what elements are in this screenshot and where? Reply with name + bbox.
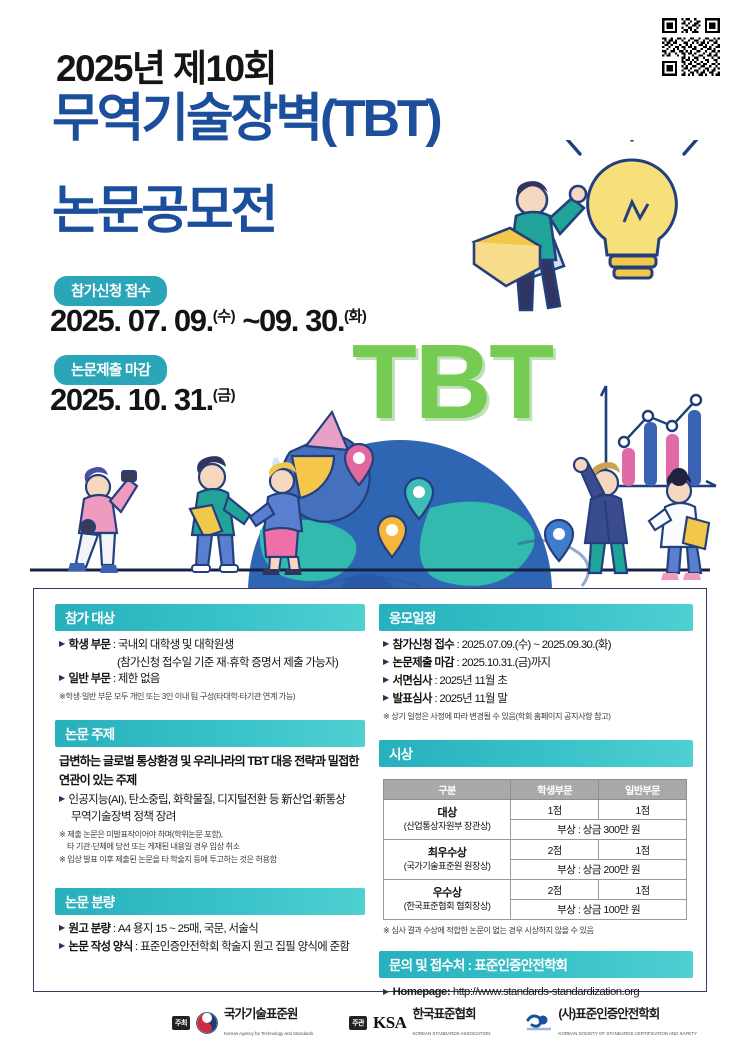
lightbulb-icon bbox=[566, 140, 698, 278]
poster-kicker: 2025년 제10회 bbox=[56, 38, 276, 92]
triangle-bullet-icon: ▶ bbox=[59, 921, 65, 936]
awards-note: ※ 심사 결과 수상에 적합한 논문이 없는 경우 시상하지 않을 수 있음 bbox=[383, 925, 687, 937]
pie-chart-icon bbox=[272, 412, 370, 522]
topic-note-1-text: ※ 제출 논문은 미발표작이어야 하며(학위논문 포함), bbox=[59, 830, 223, 839]
section-awards: 시상 구분 학생부문 일반부문 bbox=[379, 740, 693, 937]
society-name-en: KOREAN SOCIETY OF STANDARDS CERTIFICATIO… bbox=[558, 1031, 696, 1036]
list-item: ▶ 발표심사 : 2025년 11월 말 bbox=[383, 691, 691, 708]
contact-homepage-label: Homepage: bbox=[393, 986, 451, 998]
awards-row-1-grade: 최우수상 (국가기술표준원 원장상) bbox=[384, 840, 511, 880]
host-name-ko: 국가기술표준원 bbox=[224, 1007, 298, 1021]
apply-period-date: 2025. 07. 09.(수) ~09. 30.(화) bbox=[50, 303, 366, 339]
awards-row-2-grade: 우수상 (한국표준협회 협회장상) bbox=[384, 880, 511, 920]
apply-end-day: (화) bbox=[344, 308, 366, 325]
sos-icon bbox=[526, 1013, 552, 1033]
schedule-item-3-value: 2025년 11월 말 bbox=[439, 693, 507, 705]
bar-chart-icon bbox=[601, 386, 716, 486]
apply-start-day: (수) bbox=[213, 308, 235, 325]
schedule-item-0-value: 2025.07.09.(수) ~ 2025.09.30.(화) bbox=[462, 639, 611, 651]
triangle-bullet-icon: ▶ bbox=[383, 984, 389, 999]
schedule-item-1-label: 논문제출 마감 bbox=[393, 657, 455, 669]
topic-bullet-line1: 인공지능(AI), 탄소중립, 화학물질, 디지털전환 등 新산업·新통상 bbox=[69, 792, 363, 809]
schedule-item-0-sep: : bbox=[454, 639, 462, 651]
schedule-item-3-label: 발표심사 bbox=[393, 693, 432, 705]
submit-date: 2025. 10. 31. bbox=[50, 382, 213, 417]
qr-code[interactable] bbox=[660, 16, 722, 78]
target-student-subnote: (참가신청 접수일 기준 재·휴학 증명서 제출 가능자) bbox=[59, 655, 363, 672]
awards-row-1-prize: 부상 : 상금 200만 원 bbox=[511, 860, 687, 880]
person-with-folder bbox=[510, 181, 586, 310]
logo-society: (사)표준인증안전학회 KOREAN SOCIETY OF STANDARDS … bbox=[526, 1006, 696, 1040]
list-item: ▶ 논문 작성 양식 : 표준인증안전학회 학술지 원고 집필 양식에 준함 bbox=[59, 939, 363, 956]
poster-title-line2: 논문공모전 bbox=[52, 185, 275, 238]
people-left-svg bbox=[50, 455, 350, 575]
taegeuk-icon bbox=[196, 1012, 218, 1034]
submit-deadline-badge: 논문제출 마감 bbox=[54, 355, 167, 385]
triangle-bullet-icon: ▶ bbox=[383, 637, 389, 652]
triangle-bullet-icon: ▶ bbox=[383, 673, 389, 688]
awards-row-2-prize: 부상 : 상금 100만 원 bbox=[511, 900, 687, 920]
qr-code-icon bbox=[660, 16, 722, 78]
host-name-en: Korean Agency for Technology and Standar… bbox=[224, 1031, 313, 1036]
target-item-1-value: 제한 없음 bbox=[118, 673, 160, 685]
length-item-1-sep: : bbox=[133, 941, 141, 953]
awards-row-1-student: 2점 bbox=[511, 840, 599, 860]
target-item-0-label: 학생 부문 bbox=[69, 639, 111, 651]
schedule-item-2-label: 서면심사 bbox=[393, 675, 432, 687]
triangle-bullet-icon: ▶ bbox=[59, 671, 65, 686]
awards-row-0-grade-sub: (산업통상자원부 장관상) bbox=[387, 821, 507, 833]
apply-end-date: 09. 30. bbox=[259, 303, 344, 338]
list-item: ▶ 참가신청 접수 : 2025.07.09.(수) ~ 2025.09.30.… bbox=[383, 637, 691, 654]
section-schedule: 응모일정 ▶ 참가신청 접수 : 2025.07.09.(수) ~ 2025.0… bbox=[379, 604, 693, 722]
svg-text:TBT: TBT bbox=[352, 330, 553, 441]
schedule-item-2-value: 2025년 11월 초 bbox=[439, 675, 507, 687]
target-note: ※학생·일반 부문 모두 개인 또는 3인 이내 팀 구성(타대학·타기관 연계… bbox=[59, 691, 363, 703]
submit-day: (금) bbox=[213, 387, 235, 404]
organizer-name-en: KOREAN STANDARDS ASSOCIATION bbox=[412, 1031, 490, 1036]
awards-row-1-grade-sub: (국가기술표준원 원장상) bbox=[387, 861, 507, 873]
awards-row-2-student: 2점 bbox=[511, 880, 599, 900]
contact-homepage-value[interactable]: http://www.standards-standardization.org bbox=[453, 986, 639, 998]
lightbulb-scene-svg bbox=[470, 140, 720, 340]
contact-homepage-row[interactable]: ▶ Homepage: http://www.standards-standar… bbox=[383, 984, 691, 1001]
schedule-item-0-label: 참가신청 접수 bbox=[393, 639, 455, 651]
triangle-bullet-icon: ▶ bbox=[59, 792, 65, 807]
triangle-bullet-icon: ▶ bbox=[383, 691, 389, 706]
length-item-1-label: 논문 작성 양식 bbox=[69, 941, 133, 953]
list-item: ▶ 원고 분량 : A4 용지 15 ~ 25매, 국문, 서술식 bbox=[59, 921, 363, 938]
awards-row-2-general: 1점 bbox=[599, 880, 687, 900]
date-range-tilde: ~ bbox=[242, 303, 259, 338]
awards-row-2-grade-name: 우수상 bbox=[387, 887, 507, 901]
poster-title-line1: 무역기술장벽(TBT) bbox=[52, 93, 440, 146]
length-item-1-value: 표준인증안전학회 학술지 원고 집필 양식에 준함 bbox=[140, 941, 349, 953]
topic-note-2: ※ 입상 발표 이후 제출된 논문을 타 학술지 등에 투고하는 것은 허용함 bbox=[59, 854, 363, 866]
society-name-ko: (사)표준인증안전학회 bbox=[558, 1007, 659, 1021]
person-handshake-right bbox=[250, 462, 302, 575]
person-with-clipboard bbox=[649, 468, 709, 580]
poster-hero: TBT TBT TBT bbox=[0, 0, 740, 592]
awards-col-1: 학생부문 bbox=[511, 780, 599, 800]
logo-organizer: 주관 KSA 한국표준협회 KOREAN STANDARDS ASSOCIATI… bbox=[349, 1006, 490, 1040]
awards-row-0-prize: 부상 : 상금 300만 원 bbox=[511, 820, 687, 840]
list-item: ▶ 일반 부문 : 제한 없음 bbox=[59, 671, 363, 688]
person-raising-hand bbox=[574, 458, 627, 573]
tbt-wordmark: TBT TBT TBT bbox=[352, 330, 556, 444]
section-topic: 논문 주제 급변하는 글로벌 통상환경 및 우리나라의 TBT 대응 전략과 밀… bbox=[55, 720, 365, 866]
topic-note-1: ※ 제출 논문은 미발표작이어야 하며(학위논문 포함), 타 기관·단체에 당… bbox=[59, 829, 363, 853]
info-panel: 참가 대상 ▶ 학생 부문 : 국내외 대학생 및 대학원생 (참가신청 접수일… bbox=[33, 588, 707, 992]
triangle-bullet-icon: ▶ bbox=[59, 939, 65, 954]
organizer-name-ko: 한국표준협회 bbox=[412, 1007, 475, 1021]
awards-row-0-grade: 대상 (산업통상자원부 장관상) bbox=[384, 800, 511, 840]
target-item-1-label: 일반 부문 bbox=[69, 673, 111, 685]
awards-col-0: 구분 bbox=[384, 780, 511, 800]
triangle-bullet-icon: ▶ bbox=[59, 637, 65, 652]
section-length: 논문 분량 ▶ 원고 분량 : A4 용지 15 ~ 25매, 국문, 서술식 … bbox=[55, 888, 365, 956]
awards-row-0-general: 1점 bbox=[599, 800, 687, 820]
table-row: 우수상 (한국표준협회 협회장상) 2점 1점 bbox=[384, 880, 687, 900]
awards-row-1-grade-name: 최우수상 bbox=[387, 847, 507, 861]
awards-row-0-grade-name: 대상 bbox=[387, 807, 507, 821]
schedule-note: ※ 상기 일정은 사정에 따라 변경될 수 있음(학회 홈페이지 공지사항 참고… bbox=[383, 711, 691, 723]
apply-start-date: 2025. 07. 09. bbox=[50, 303, 213, 338]
svg-text:TBT: TBT bbox=[352, 330, 553, 441]
topic-bullet-line2: 무역기술장벽 정책 장려 bbox=[59, 809, 363, 826]
schedule-item-1-value: 2025.10.31.(금)까지 bbox=[462, 657, 551, 669]
awards-table: 구분 학생부문 일반부문 대상 (산업통상자원부 장관상) bbox=[383, 779, 687, 920]
organizer-logos: 주최 국가기술표준원 Korean Agency for Technology … bbox=[172, 1006, 697, 1040]
topic-note-1b-text: 타 기관·단체에 당선 또는 게재된 내용일 경우 입상 취소 bbox=[59, 841, 363, 853]
ksa-mark: KSA bbox=[373, 1013, 406, 1033]
target-item-1-sep: : bbox=[110, 673, 118, 685]
awards-row-0-student: 1점 bbox=[511, 800, 599, 820]
section-target-heading: 참가 대상 bbox=[55, 604, 365, 631]
length-item-0-sep: : bbox=[110, 923, 118, 935]
people-right-svg bbox=[565, 455, 725, 580]
section-topic-heading: 논문 주제 bbox=[55, 720, 365, 747]
awards-row-2-grade-sub: (한국표준협회 협회장상) bbox=[387, 901, 507, 913]
organizer-role-chip: 주관 bbox=[349, 1016, 367, 1030]
section-schedule-heading: 응모일정 bbox=[379, 604, 693, 631]
topic-lead-line2: 연관이 있는 주제 bbox=[59, 772, 363, 789]
footer: 주최 국가기술표준원 Korean Agency for Technology … bbox=[0, 1000, 740, 1047]
section-contact-heading: 문의 및 접수처 : 표준인증안전학회 bbox=[379, 951, 693, 978]
target-item-0-sep: : bbox=[110, 639, 118, 651]
person-photographer bbox=[68, 467, 137, 573]
list-item: ▶ 논문제출 마감 : 2025.10.31.(금)까지 bbox=[383, 655, 691, 672]
map-pin-icons bbox=[345, 444, 573, 561]
section-target: 참가 대상 ▶ 학생 부문 : 국내외 대학생 및 대학원생 (참가신청 접수일… bbox=[55, 604, 365, 703]
list-item: ▶ 인공지능(AI), 탄소중립, 화학물질, 디지털전환 등 新산업·新통상 bbox=[59, 792, 363, 809]
svg-text:TBT: TBT bbox=[355, 330, 556, 444]
panel-left-column: 참가 대상 ▶ 학생 부문 : 국내외 대학생 및 대학원생 (참가신청 접수일… bbox=[55, 604, 365, 969]
list-item: ▶ 서면심사 : 2025년 11월 초 bbox=[383, 673, 691, 690]
host-role-chip: 주최 bbox=[172, 1016, 190, 1030]
triangle-bullet-icon: ▶ bbox=[383, 655, 389, 670]
list-item: ▶ 학생 부문 : 국내외 대학생 및 대학원생 bbox=[59, 637, 363, 654]
apply-period-badge: 참가신청 접수 bbox=[54, 276, 167, 306]
awards-col-2: 일반부문 bbox=[599, 780, 687, 800]
awards-row-1-general: 1점 bbox=[599, 840, 687, 860]
schedule-item-1-sep: : bbox=[454, 657, 462, 669]
length-item-0-label: 원고 분량 bbox=[69, 923, 111, 935]
topic-lead-line1: 급변하는 글로벌 통상환경 및 우리나라의 TBT 대응 전략과 밀접한 bbox=[59, 753, 363, 770]
table-row: 최우수상 (국가기술표준원 원장상) 2점 1점 bbox=[384, 840, 687, 860]
folder-icon bbox=[474, 228, 540, 286]
logo-host: 주최 국가기술표준원 Korean Agency for Technology … bbox=[172, 1006, 313, 1040]
table-row: 대상 (산업통상자원부 장관상) 1점 1점 bbox=[384, 800, 687, 820]
submit-deadline-date: 2025. 10. 31.(금) bbox=[50, 382, 235, 418]
length-item-0-value: A4 용지 15 ~ 25매, 국문, 서술식 bbox=[118, 923, 258, 935]
section-awards-heading: 시상 bbox=[379, 740, 693, 767]
panel-right-column: 응모일정 ▶ 참가신청 접수 : 2025.07.09.(수) ~ 2025.0… bbox=[379, 604, 693, 1059]
section-length-heading: 논문 분량 bbox=[55, 888, 365, 915]
person-handshake-left bbox=[190, 456, 250, 572]
target-item-0-value: 국내외 대학생 및 대학원생 bbox=[118, 639, 234, 651]
table-header-row: 구분 학생부문 일반부문 bbox=[384, 780, 687, 800]
globe-icon bbox=[248, 440, 589, 592]
